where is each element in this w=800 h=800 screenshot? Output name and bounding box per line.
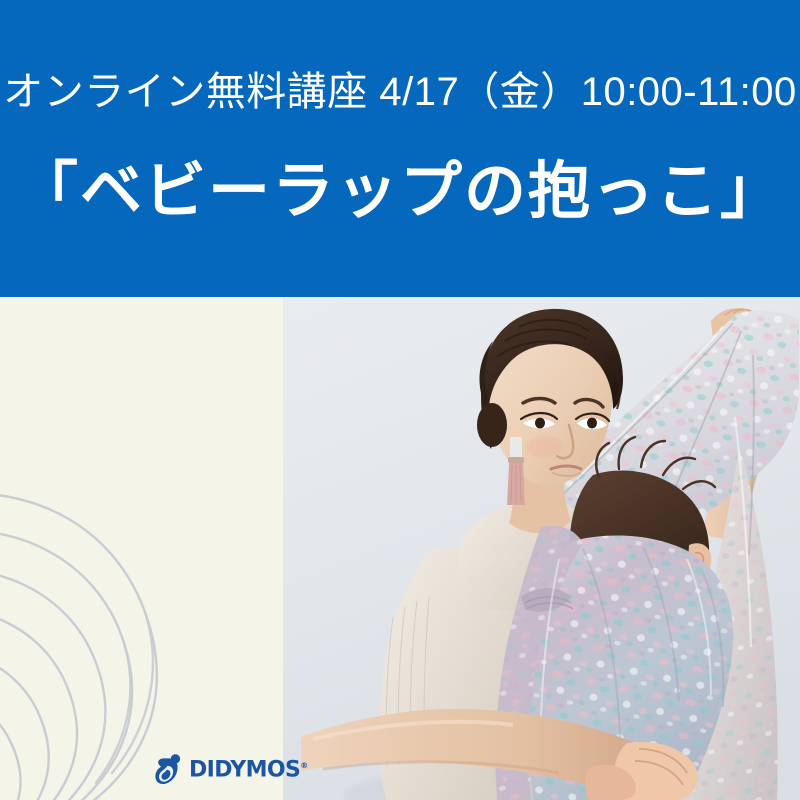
- poster-root: オンライン無料講座 4/17（金）10:00-11:00 「ベビーラップの抱っこ…: [0, 0, 800, 800]
- header-banner: オンライン無料講座 4/17（金）10:00-11:00 「ベビーラップの抱っこ…: [0, 0, 800, 297]
- event-schedule-text: オンライン無料講座 4/17（金）10:00-11:00: [0, 66, 800, 118]
- didymos-logo: DIDYMOS®: [155, 752, 308, 785]
- didymos-wordmark: DIDYMOS®: [189, 755, 308, 781]
- mother-baby-wrap-illustration: [283, 297, 800, 800]
- event-title-text: 「ベビーラップの抱っこ」: [0, 152, 800, 232]
- concentric-curves-decoration: [0, 297, 283, 800]
- mother-and-baby-icon: [155, 752, 185, 785]
- didymos-wordmark-text: DIDYMOS: [189, 758, 300, 783]
- left-decorative-panel: [0, 297, 283, 800]
- hero-photo: [283, 297, 800, 800]
- registered-trademark-symbol: ®: [300, 761, 307, 770]
